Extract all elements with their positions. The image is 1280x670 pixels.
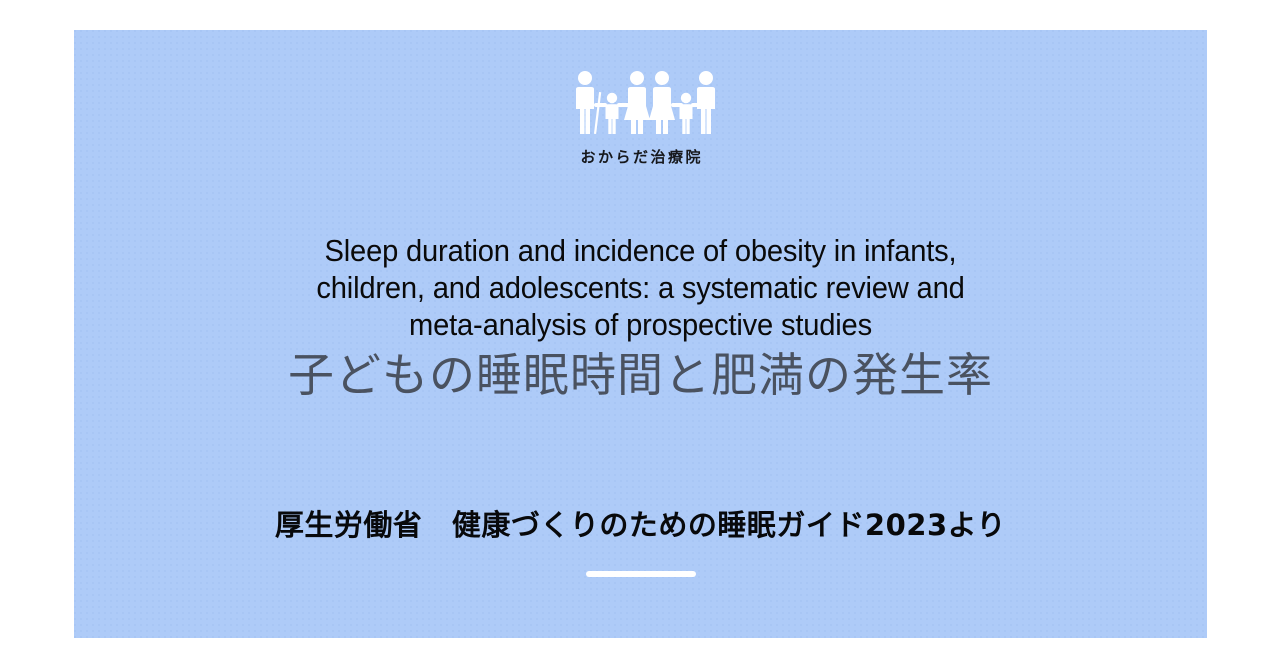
logo-wordmark: おからだ治療院 — [74, 150, 1207, 165]
title-english-line-3: meta-analysis of prospective studies — [146, 306, 1136, 343]
title-english-line-2: children, and adolescents: a systematic … — [146, 269, 1136, 306]
source-attribution: 厚生労働省 健康づくりのための睡眠ガイド2023より — [74, 508, 1207, 543]
slide-canvas: おからだ治療院 Sleep duration and incidence of … — [0, 0, 1280, 670]
logo-block: おからだ治療院 — [74, 70, 1207, 165]
family-group-icon — [567, 70, 715, 136]
slide-card: おからだ治療院 Sleep duration and incidence of … — [74, 30, 1207, 638]
title-japanese: 子どもの睡眠時間と肥満の発生率 — [114, 347, 1167, 403]
divider-rule — [586, 571, 696, 577]
title-english: Sleep duration and incidence of obesity … — [146, 232, 1136, 343]
source-block: 厚生労働省 健康づくりのための睡眠ガイド2023より — [74, 508, 1207, 577]
title-english-line-1: Sleep duration and incidence of obesity … — [146, 232, 1136, 269]
title-block: Sleep duration and incidence of obesity … — [74, 232, 1207, 403]
